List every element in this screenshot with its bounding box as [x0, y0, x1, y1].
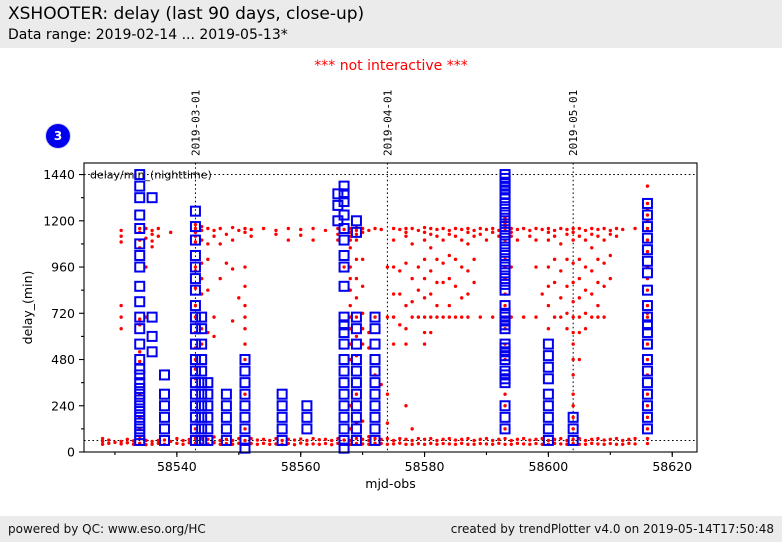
data-point-dot [460, 228, 463, 231]
data-point-dot [361, 285, 364, 288]
data-point-dot [571, 231, 574, 234]
data-point-dot [355, 277, 358, 280]
data-point-dot [349, 246, 352, 249]
data-point-dot [633, 437, 636, 440]
data-point-dot [584, 327, 587, 330]
data-point-dot [485, 228, 488, 231]
data-point-dot [225, 438, 228, 441]
data-point-dot [324, 229, 327, 232]
data-point-dot [571, 238, 574, 241]
data-point-dot [435, 281, 438, 284]
data-point-dot [349, 304, 352, 307]
data-point-dot [553, 315, 556, 318]
data-point-dot [138, 227, 141, 230]
data-point-dot [355, 315, 358, 318]
data-point-dot [231, 238, 234, 241]
data-point-dot [491, 439, 494, 442]
y-axis-title: delay_(min) [20, 271, 35, 345]
data-point-dot [423, 238, 426, 241]
data-point-dot [522, 442, 525, 445]
data-point-dot [609, 254, 612, 257]
data-point-dot [578, 277, 581, 280]
data-point-dot [231, 319, 234, 322]
data-point-dot [590, 292, 593, 295]
data-point-dot [460, 315, 463, 318]
data-point-dot [404, 342, 407, 345]
data-point-dot [423, 277, 426, 280]
data-point-dot [646, 227, 649, 230]
data-point-dot [602, 238, 605, 241]
data-point-dot [441, 227, 444, 230]
data-point-dot [646, 202, 649, 205]
data-point-dot [355, 229, 358, 232]
data-point-dot [429, 269, 432, 272]
data-point-dot [212, 229, 215, 232]
data-point-dot [243, 327, 246, 330]
data-point-dot [547, 439, 550, 442]
data-point-dot [194, 304, 197, 307]
data-point-dot [206, 227, 209, 230]
data-point-dot [361, 258, 364, 261]
data-point-dot [423, 331, 426, 334]
data-point-dot [429, 437, 432, 440]
data-point-dot [534, 438, 537, 441]
data-point-dot [472, 229, 475, 232]
data-point-dot [318, 443, 321, 446]
data-point-dot [101, 443, 104, 446]
data-point-dot [571, 331, 574, 334]
data-point-dot [596, 304, 599, 307]
data-point-dot [454, 235, 457, 238]
data-point-dot [373, 437, 376, 440]
data-point-dot [522, 315, 525, 318]
data-point-dot [602, 227, 605, 230]
data-point-dot [609, 442, 612, 445]
footer-credit-left[interactable]: powered by QC: www.eso.org/HC [8, 522, 206, 536]
data-point-dot [528, 235, 531, 238]
data-point-dot [621, 228, 624, 231]
data-point-dot [590, 442, 593, 445]
data-point-dot [175, 442, 178, 445]
data-point-dot [503, 443, 506, 446]
data-point-dot [503, 393, 506, 396]
data-point-dot [150, 443, 153, 446]
data-point-dot [119, 240, 122, 243]
data-point-dot [559, 296, 562, 299]
data-point-dot [225, 261, 228, 264]
y-tick-label: 720 [51, 306, 75, 321]
data-point-dot [404, 404, 407, 407]
data-point-dot [410, 439, 413, 442]
data-point-dot [584, 229, 587, 232]
data-point-dot [392, 238, 395, 241]
data-point-dot [565, 312, 568, 315]
data-point-dot [119, 442, 122, 445]
data-point-dot [602, 285, 605, 288]
data-point-dot [547, 304, 550, 307]
data-point-dot [609, 229, 612, 232]
data-point-dot [386, 393, 389, 396]
data-point-dot [429, 227, 432, 230]
data-point-dot [311, 442, 314, 445]
data-point-dot [225, 233, 228, 236]
data-point-dot [646, 404, 649, 407]
data-point-dot [398, 292, 401, 295]
data-point-dot [423, 315, 426, 318]
data-point-dot [590, 438, 593, 441]
data-point-dot [243, 358, 246, 361]
data-point-dot [386, 443, 389, 446]
data-point-dot [559, 442, 562, 445]
data-point-dot [460, 296, 463, 299]
data-point-dot [404, 304, 407, 307]
data-point-dot [485, 437, 488, 440]
data-point-dot [262, 227, 265, 230]
data-point-dot [615, 437, 618, 440]
data-point-dot [404, 231, 407, 234]
data-point-dot [169, 231, 172, 234]
data-point-dot [602, 261, 605, 264]
data-point-dot [454, 315, 457, 318]
data-point-dot [386, 437, 389, 440]
data-point-dot [373, 315, 376, 318]
data-point-dot [547, 238, 550, 241]
data-point-dot [646, 315, 649, 318]
data-point-dot [547, 327, 550, 330]
data-point-dot [355, 258, 358, 261]
data-point-dot [423, 226, 426, 229]
data-point-dot [559, 269, 562, 272]
data-point-dot [330, 443, 333, 446]
data-point-dot [435, 258, 438, 261]
data-point-dot [243, 427, 246, 430]
data-point-dot [571, 404, 574, 407]
data-point-dot [305, 443, 308, 446]
data-point-dot [243, 265, 246, 268]
data-point-dot [219, 227, 222, 230]
data-point-dot [311, 437, 314, 440]
data-point-dot [609, 277, 612, 280]
data-point-dot [181, 439, 184, 442]
data-point-dot [392, 265, 395, 268]
y-tick-label: 240 [51, 398, 75, 413]
data-point-dot [553, 235, 556, 238]
data-point-dot [571, 281, 574, 284]
x-tick-label: 58600 [529, 459, 569, 474]
data-point-dot [559, 315, 562, 318]
data-point-dot [237, 296, 240, 299]
data-point-dot [454, 227, 457, 230]
data-point-dot [355, 233, 358, 236]
data-point-dot [299, 441, 302, 444]
data-point-dot [460, 438, 463, 441]
data-point-dot [441, 261, 444, 264]
data-point-dot [646, 427, 649, 430]
data-point-dot [410, 277, 413, 280]
data-point-dot [299, 234, 302, 237]
data-point-dot [423, 438, 426, 441]
data-point-dot [392, 442, 395, 445]
data-point-dot [466, 231, 469, 234]
data-point-dot [417, 288, 420, 291]
data-point-dot [342, 265, 345, 268]
data-point-dot [194, 287, 197, 290]
data-point-dot [479, 233, 482, 236]
data-point-dot [150, 239, 153, 242]
y-tick-label: 1440 [43, 167, 75, 182]
data-point-dot [547, 285, 550, 288]
data-point-dot [398, 437, 401, 440]
data-point-dot [429, 315, 432, 318]
data-point-dot [565, 228, 568, 231]
data-point-dot [243, 342, 246, 345]
data-point-dot [584, 439, 587, 442]
data-point-dot [534, 227, 537, 230]
data-point-dot [522, 227, 525, 230]
data-point-dot [119, 235, 122, 238]
data-point-dot [126, 438, 129, 441]
data-point-dot [571, 342, 574, 345]
data-point-dot [571, 438, 574, 441]
data-point-dot [646, 213, 649, 216]
data-point-dot [596, 442, 599, 445]
data-point-dot [466, 242, 469, 245]
data-point-dot [181, 443, 184, 446]
data-point-dot [571, 315, 574, 318]
data-point-dot [448, 233, 451, 236]
y-tick-label: 480 [51, 352, 75, 367]
data-point-dot [646, 250, 649, 253]
data-point-dot [497, 442, 500, 445]
data-point-dot [212, 235, 215, 238]
data-point-dot [206, 288, 209, 291]
data-point-dot [503, 404, 506, 407]
data-point-dot [150, 440, 153, 443]
data-point-dot [423, 231, 426, 234]
data-point-dot [441, 438, 444, 441]
data-point-dot [305, 439, 308, 442]
data-point-dot [547, 231, 550, 234]
data-point-dot [621, 443, 624, 446]
data-point-dot [516, 228, 519, 231]
data-point-dot [584, 265, 587, 268]
data-point-dot [534, 315, 537, 318]
data-point-dot [243, 315, 246, 318]
data-point-dot [571, 358, 574, 361]
data-point-dot [479, 438, 482, 441]
data-point-dot [646, 304, 649, 307]
data-point-dot [491, 227, 494, 230]
data-point-dot [157, 235, 160, 238]
data-point-dot [126, 441, 129, 444]
data-point-dot [479, 442, 482, 445]
data-point-dot [466, 315, 469, 318]
data-point-dot [410, 443, 413, 446]
data-point-dot [373, 227, 376, 230]
data-point-dot [435, 439, 438, 442]
data-point-dot [460, 442, 463, 445]
data-point-dot [448, 277, 451, 280]
data-point-dot [435, 315, 438, 318]
data-point-dot [342, 438, 345, 441]
data-point-dot [559, 437, 562, 440]
data-point-dot [448, 304, 451, 307]
data-point-dot [646, 342, 649, 345]
data-point-dot [349, 277, 352, 280]
data-point-dot [293, 443, 296, 446]
data-point-dot [584, 443, 587, 446]
data-point-dot [417, 437, 420, 440]
data-point-dot [386, 421, 389, 424]
data-point-dot [429, 331, 432, 334]
data-point-dot [330, 439, 333, 442]
data-point-dot [615, 227, 618, 230]
data-point-dot [466, 292, 469, 295]
data-point-dot [274, 229, 277, 232]
data-point-dot [485, 238, 488, 241]
data-point-dot [472, 235, 475, 238]
data-point-dot [392, 315, 395, 318]
data-point-dot [578, 235, 581, 238]
data-point-dot [565, 285, 568, 288]
x-tick-label: 58580 [405, 459, 445, 474]
data-point-dot [609, 438, 612, 441]
data-point-dot [485, 442, 488, 445]
data-point-dot [479, 315, 482, 318]
data-point-dot [231, 267, 234, 270]
data-point-dot [541, 228, 544, 231]
data-point-dot [410, 300, 413, 303]
data-point-dot [590, 233, 593, 236]
data-point-dot [646, 393, 649, 396]
data-point-dot [429, 246, 432, 249]
data-point-dot [256, 438, 259, 441]
data-point-dot [101, 437, 104, 440]
data-point-dot [646, 358, 649, 361]
data-point-dot [194, 223, 197, 226]
data-point-dot [553, 281, 556, 284]
data-point-dot [565, 258, 568, 261]
date-label: 2019-04-01 [381, 90, 394, 156]
y-tick-label: 960 [51, 260, 75, 275]
data-point-dot [423, 296, 426, 299]
data-point-dot [516, 438, 519, 441]
data-point-dot [423, 258, 426, 261]
data-point-dot [578, 315, 581, 318]
data-point-dot [107, 438, 110, 441]
data-point-dot [571, 300, 574, 303]
data-point-dot [157, 227, 160, 230]
data-point-dot [423, 443, 426, 446]
data-point-dot [441, 315, 444, 318]
data-point-dot [429, 233, 432, 236]
data-point-dot [596, 228, 599, 231]
data-point-dot [466, 269, 469, 272]
data-point-dot [596, 235, 599, 238]
data-point-dot [510, 439, 513, 442]
data-point-dot [547, 265, 550, 268]
data-point-dot [380, 228, 383, 231]
data-point-dot [571, 261, 574, 264]
data-point-dot [194, 227, 197, 230]
data-point-dot [417, 229, 420, 232]
data-point-dot [423, 342, 426, 345]
data-point-dot [386, 265, 389, 268]
data-point-dot [324, 438, 327, 441]
data-point-dot [491, 231, 494, 234]
data-point-dot [528, 229, 531, 232]
data-point-dot [596, 258, 599, 261]
data-point-dot [268, 443, 271, 446]
data-point-dot [571, 416, 574, 419]
data-point-dot [615, 235, 618, 238]
data-point-dot [528, 443, 531, 446]
data-point-dot [398, 269, 401, 272]
data-point-dot [503, 437, 506, 440]
data-point-dot [163, 438, 166, 441]
data-point-dot [534, 238, 537, 241]
data-point-dot [602, 438, 605, 441]
data-point-dot [646, 437, 649, 440]
data-point-dot [454, 285, 457, 288]
data-point-dot [454, 258, 457, 261]
data-point-dot [516, 238, 519, 241]
data-point-dot [150, 229, 153, 232]
data-point-dot [584, 288, 587, 291]
data-point-dot [249, 235, 252, 238]
data-point-dot [410, 427, 413, 430]
data-point-dot [262, 438, 265, 441]
data-point-dot [212, 315, 215, 318]
data-point-dot [107, 442, 110, 445]
data-point-dot [441, 238, 444, 241]
data-point-dot [299, 228, 302, 231]
x-tick-label: 58540 [157, 459, 197, 474]
data-point-dot [528, 438, 531, 441]
data-point-dot [219, 277, 222, 280]
data-point-dot [534, 442, 537, 445]
data-point-dot [646, 184, 649, 187]
data-point-dot [324, 442, 327, 445]
data-point-dot [448, 315, 451, 318]
data-point-dot [256, 443, 259, 446]
data-point-dot [355, 238, 358, 241]
data-point-dot [590, 269, 593, 272]
data-point-dot [646, 238, 649, 241]
data-point-dot [318, 438, 321, 441]
data-point-dot [274, 233, 277, 236]
data-point-dot [311, 238, 314, 241]
data-point-dot [243, 393, 246, 396]
data-point-dot [404, 438, 407, 441]
data-point-dot [417, 442, 420, 445]
data-point-dot [596, 437, 599, 440]
data-point-dot [231, 226, 234, 229]
data-point-dot [466, 227, 469, 230]
data-point-dot [547, 227, 550, 230]
data-point-dot [596, 281, 599, 284]
data-point-dot [578, 358, 581, 361]
plot-area [84, 163, 697, 452]
data-point-dot [584, 312, 587, 315]
data-point-dot [503, 304, 506, 307]
data-point-dot [448, 437, 451, 440]
data-point-dot [355, 437, 358, 440]
data-point-dot [268, 439, 271, 442]
data-point-dot [491, 315, 494, 318]
data-point-dot [410, 315, 413, 318]
data-point-dot [503, 427, 506, 430]
